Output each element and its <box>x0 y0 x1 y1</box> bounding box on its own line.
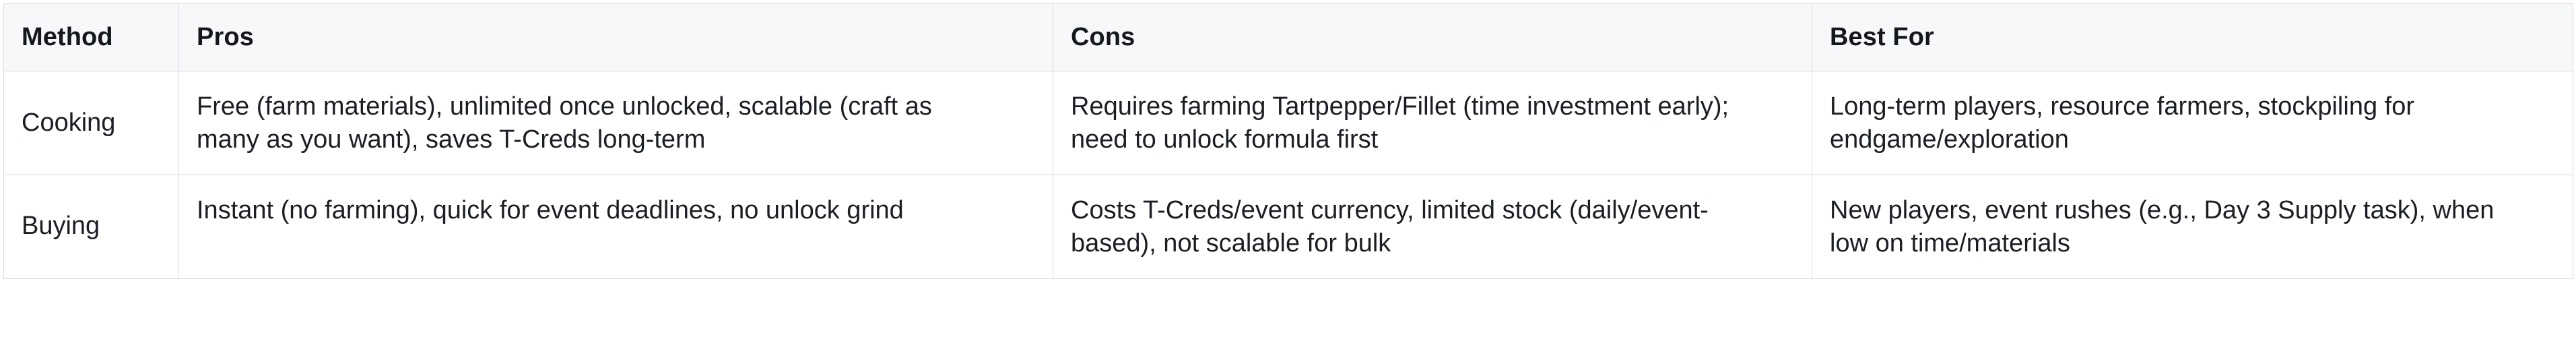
table-header-row: Method Pros Cons Best For <box>4 4 2573 71</box>
method-value: Buying <box>22 210 161 243</box>
table-header: Method Pros Cons Best For <box>4 4 2573 71</box>
column-header-pros: Pros <box>179 4 1053 71</box>
method-value: Cooking <box>22 106 161 140</box>
cell-best-for: New players, event rushes (e.g., Day 3 S… <box>1812 175 2573 278</box>
cons-value: Requires farming Tartpepper/Fillet (time… <box>1071 90 1744 157</box>
cell-cons: Costs T-Creds/event currency, limited st… <box>1053 175 1812 278</box>
comparison-table-container: Method Pros Cons Best For Cooking Free (… <box>0 0 2576 337</box>
column-header-method: Method <box>4 4 179 71</box>
table-row: Buying Instant (no farming), quick for e… <box>4 175 2573 278</box>
table-row: Cooking Free (farm materials), unlimited… <box>4 71 2573 175</box>
cell-pros: Instant (no farming), quick for event de… <box>179 175 1053 278</box>
cons-value: Costs T-Creds/event currency, limited st… <box>1071 194 1764 261</box>
cell-best-for: Long-term players, resource farmers, sto… <box>1812 71 2573 175</box>
column-header-cons: Cons <box>1053 4 1812 71</box>
best-for-value: New players, event rushes (e.g., Day 3 S… <box>1830 194 2534 261</box>
pros-value: Instant (no farming), quick for event de… <box>197 194 1035 227</box>
cell-cons: Requires farming Tartpepper/Fillet (time… <box>1053 71 1812 175</box>
cell-method: Cooking <box>4 71 179 175</box>
column-header-best-for: Best For <box>1812 4 2573 71</box>
best-for-value: Long-term players, resource farmers, sto… <box>1830 90 2511 157</box>
cell-method: Buying <box>4 175 179 278</box>
method-comparison-table: Method Pros Cons Best For Cooking Free (… <box>3 3 2573 279</box>
pros-value: Free (farm materials), unlimited once un… <box>197 90 995 157</box>
cell-pros: Free (farm materials), unlimited once un… <box>179 71 1053 175</box>
table-body: Cooking Free (farm materials), unlimited… <box>4 71 2573 279</box>
